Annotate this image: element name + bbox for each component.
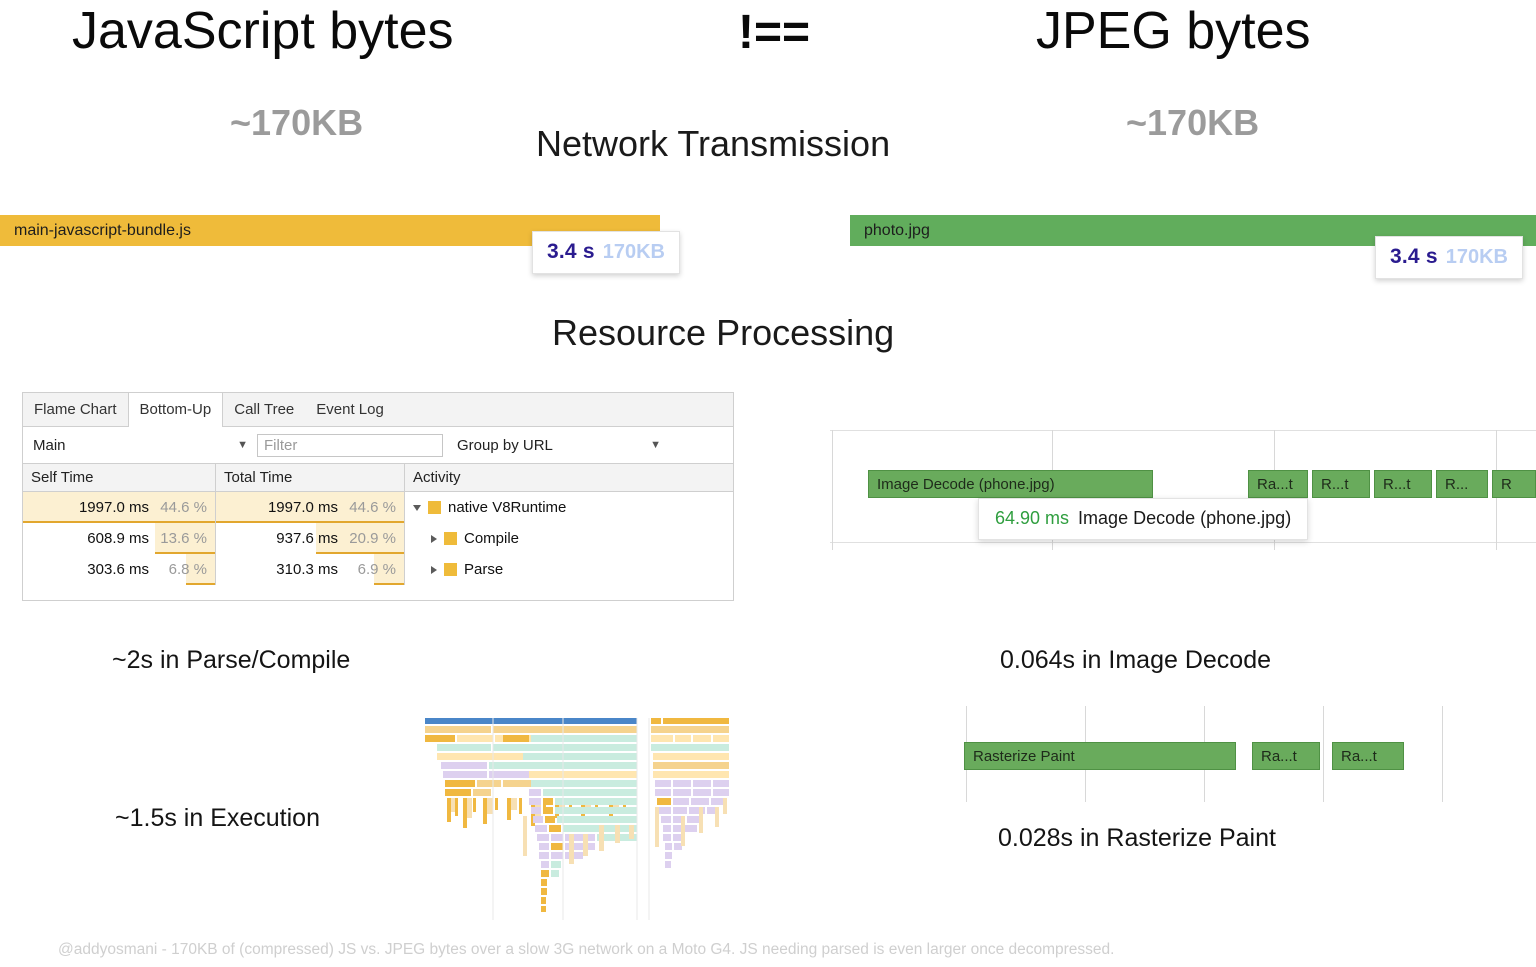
tab-call-tree[interactable]: Call Tree [223, 393, 305, 426]
timeline-bar-raster-1[interactable]: Ra...t [1248, 470, 1308, 498]
tab-call-tree-label: Call Tree [234, 401, 294, 418]
timeline-rasterize-paint: Rasterize Paint Ra...t Ra...t [940, 706, 1500, 802]
disclosure-triangle-collapsed-icon[interactable] [431, 566, 437, 574]
tab-bottom-up[interactable]: Bottom-Up [128, 393, 224, 427]
total-time-pct: 44.6 % [346, 499, 396, 516]
cell-self-time: 1997.0 ms 44.6 % [23, 492, 216, 523]
not-equal-operator: !== [738, 9, 810, 57]
tab-event-log-label: Event Log [316, 401, 384, 418]
tab-event-log[interactable]: Event Log [305, 393, 395, 426]
tooltip-size-jpeg: 170KB [1446, 246, 1508, 269]
table-row[interactable]: 303.6 ms 6.8 % 310.3 ms 6.9 % Parse [23, 554, 733, 585]
devtools-toolbar: Main ▼ Filter Group by URL ▼ [23, 427, 733, 464]
network-tooltip-javascript: 3.4 s 170KB [532, 231, 680, 274]
timeline-bar-raster-4-label: R... [1445, 476, 1468, 493]
section-label-network: Network Transmission [536, 126, 890, 162]
total-time-ms: 1997.0 ms [268, 499, 338, 516]
grouping-select[interactable]: Group by URL ▼ [457, 437, 661, 454]
timeline-bar-raster-2-label: R...t [1321, 476, 1349, 493]
section-label-processing: Resource Processing [552, 315, 894, 351]
tooltip-size-javascript: 170KB [603, 241, 665, 264]
timeline-tooltip-image-decode: 64.90 ms Image Decode (phone.jpg) [978, 498, 1308, 540]
timeline-bar-rasterize-paint-label: Rasterize Paint [973, 748, 1075, 765]
table-row[interactable]: 1997.0 ms 44.6 % 1997.0 ms 44.6 % native… [23, 492, 733, 523]
self-time-pct: 13.6 % [157, 530, 207, 547]
timeline-bar-raster-5[interactable]: R [1492, 470, 1536, 498]
cell-self-time: 303.6 ms 6.8 % [23, 554, 216, 585]
self-time-ms: 608.9 ms [87, 530, 149, 547]
activity-label: native V8Runtime [448, 499, 566, 516]
tooltip-time-javascript: 3.4 s [547, 240, 595, 264]
timeline-bar-raster-1-label: Ra...t [1257, 476, 1293, 493]
self-time-ms: 1997.0 ms [79, 499, 149, 516]
footer-attribution: @addyosmani - 170KB of (compressed) JS v… [58, 941, 1114, 959]
tab-flame-chart[interactable]: Flame Chart [23, 393, 128, 426]
activity-color-swatch-icon [444, 563, 457, 576]
cell-total-time: 937.6 ms 20.9 % [216, 523, 405, 554]
total-time-pct: 20.9 % [346, 530, 396, 547]
tab-bottom-up-label: Bottom-Up [140, 401, 212, 418]
column-header-activity[interactable]: Activity [405, 464, 733, 491]
timeline-bar-image-decode-label: Image Decode (phone.jpg) [877, 476, 1055, 493]
timeline-image-decode: Image Decode (phone.jpg) Ra...t R...t R.… [830, 430, 1536, 550]
cell-total-time: 310.3 ms 6.9 % [216, 554, 405, 585]
cell-activity: Compile [405, 523, 733, 554]
network-tooltip-jpeg: 3.4 s 170KB [1375, 236, 1523, 279]
column-header-self-time[interactable]: Self Time [23, 464, 216, 491]
cell-total-time: 1997.0 ms 44.6 % [216, 492, 405, 523]
column-header-total-time[interactable]: Total Time [216, 464, 405, 491]
timeline-bar-raster-3-label: R...t [1383, 476, 1411, 493]
thread-select[interactable]: Main ▼ [33, 437, 248, 454]
disclosure-triangle-collapsed-icon[interactable] [431, 535, 437, 543]
self-time-ms: 303.6 ms [87, 561, 149, 578]
activity-label: Parse [464, 561, 503, 578]
activity-color-swatch-icon [428, 501, 441, 514]
caption-js-parse-compile: ~2s in Parse/Compile [112, 648, 350, 673]
timeline-bar-raster-4[interactable]: R... [1436, 470, 1488, 498]
total-time-pct: 6.9 % [346, 561, 396, 578]
network-bar-jpeg-label: photo.jpg [850, 222, 930, 240]
timeline-bar-rasterize-paint[interactable]: Rasterize Paint [964, 742, 1236, 770]
tab-flame-chart-label: Flame Chart [34, 401, 117, 418]
activity-color-swatch-icon [444, 532, 457, 545]
grouping-select-value: Group by URL [457, 437, 553, 454]
page-title-javascript: JavaScript bytes [72, 5, 454, 57]
network-bar-javascript-label: main-javascript-bundle.js [0, 222, 191, 240]
javascript-size-label: ~170KB [230, 105, 363, 141]
table-header-row: Self Time Total Time Activity [23, 464, 733, 492]
devtools-tabstrip: Flame Chart Bottom-Up Call Tree Event Lo… [23, 393, 733, 427]
activity-label: Compile [464, 530, 519, 547]
caption-rasterize-paint: 0.028s in Rasterize Paint [998, 826, 1276, 851]
jpeg-size-label: ~170KB [1126, 105, 1259, 141]
devtools-performance-panel: Flame Chart Bottom-Up Call Tree Event Lo… [22, 392, 734, 601]
tooltip-time-jpeg: 3.4 s [1390, 245, 1438, 269]
timeline-gridline [1442, 706, 1443, 802]
cell-activity: native V8Runtime [405, 492, 733, 523]
chevron-down-icon: ▼ [650, 440, 661, 451]
total-time-ms: 937.6 ms [276, 530, 338, 547]
timeline-bar-image-decode[interactable]: Image Decode (phone.jpg) [868, 470, 1153, 498]
disclosure-triangle-expanded-icon[interactable] [413, 505, 421, 511]
filter-input[interactable]: Filter [257, 434, 443, 457]
timeline-gridline [1323, 706, 1324, 802]
tooltip-duration: 64.90 ms [995, 508, 1069, 529]
timeline-top-rule [830, 430, 1536, 431]
thread-select-value: Main [33, 437, 66, 454]
timeline-gridline [832, 430, 833, 550]
total-time-ms: 310.3 ms [276, 561, 338, 578]
cell-activity: Parse [405, 554, 733, 585]
chevron-down-icon: ▼ [237, 440, 248, 451]
self-time-pct: 6.8 % [157, 561, 207, 578]
caption-image-decode: 0.064s in Image Decode [1000, 648, 1271, 673]
table-row[interactable]: 608.9 ms 13.6 % 937.6 ms 20.9 % Compile [23, 523, 733, 554]
flame-chart-thumbnail-image [423, 718, 735, 920]
page-title-jpeg: JPEG bytes [1036, 5, 1311, 57]
timeline-bar-rasterize-small-2[interactable]: Ra...t [1332, 742, 1404, 770]
timeline-bar-raster-3[interactable]: R...t [1374, 470, 1432, 498]
tooltip-activity-name: Image Decode (phone.jpg) [1078, 508, 1291, 529]
timeline-bar-rasterize-small-2-label: Ra...t [1341, 748, 1377, 765]
timeline-bar-raster-2[interactable]: R...t [1312, 470, 1370, 498]
cell-self-time: 608.9 ms 13.6 % [23, 523, 216, 554]
self-time-pct: 44.6 % [157, 499, 207, 516]
timeline-bottom-rule [830, 542, 1536, 543]
flame-chart-thumbnail[interactable] [423, 718, 735, 920]
caption-js-execution: ~1.5s in Execution [115, 806, 320, 831]
timeline-bar-rasterize-small-1[interactable]: Ra...t [1252, 742, 1320, 770]
timeline-bar-raster-5-label: R [1501, 476, 1512, 493]
timeline-bar-rasterize-small-1-label: Ra...t [1261, 748, 1297, 765]
